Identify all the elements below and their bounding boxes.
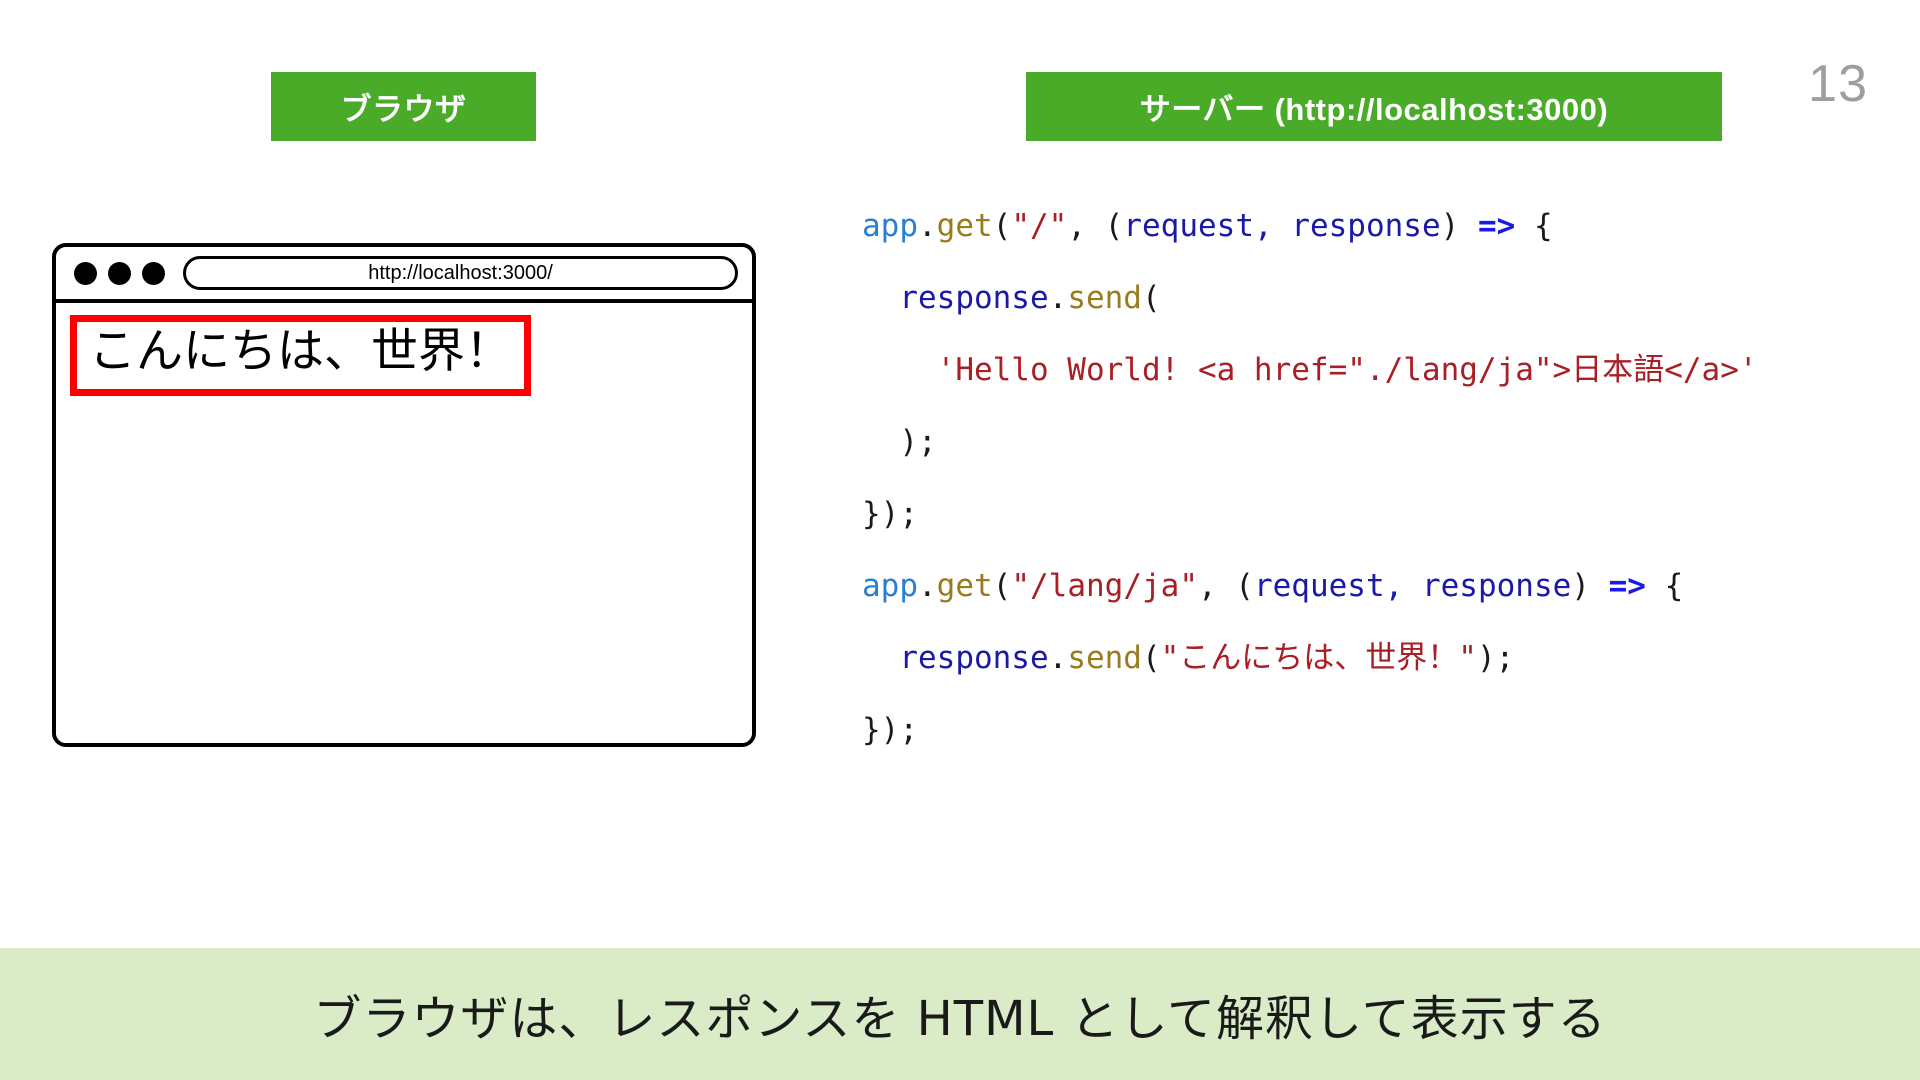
code-token-arrow: => xyxy=(1478,208,1515,244)
banner-server: サーバー (http://localhost:3000) xyxy=(1026,72,1722,141)
address-bar-url: http://localhost:3000/ xyxy=(368,263,553,283)
code-token-punct: { xyxy=(1515,208,1552,244)
code-line: response.send( xyxy=(862,262,1892,334)
code-token-arrow: => xyxy=(1609,568,1646,604)
window-dot-1-icon xyxy=(74,262,97,285)
rendered-page-text: こんにちは、世界！ xyxy=(89,326,512,379)
caption-text: ブラウザは、レスポンスを HTML として解釈して表示する xyxy=(313,979,1606,1049)
code-token-punct xyxy=(862,280,899,316)
code-token-method: get xyxy=(937,568,993,604)
code-token-punct: ( xyxy=(1142,640,1161,676)
code-token-punct: ) xyxy=(1441,208,1478,244)
server-code-block: app.get("/", (request, response) => { re… xyxy=(862,190,1892,766)
code-token-punct xyxy=(862,352,937,388)
code-token-punct: ( xyxy=(993,208,1012,244)
browser-chrome: http://localhost:3000/ xyxy=(56,247,752,303)
code-token-punct: ); xyxy=(1477,640,1514,676)
code-token-str: "こんにちは、世界！" xyxy=(1161,640,1477,676)
caption-band: ブラウザは、レスポンスを HTML として解釈して表示する xyxy=(0,948,1920,1080)
browser-window-mockup: http://localhost:3000/ こんにちは、世界！ xyxy=(52,243,756,747)
code-line: app.get("/", (request, response) => { xyxy=(862,190,1892,262)
code-token-punct xyxy=(862,640,899,676)
browser-viewport: こんにちは、世界！ xyxy=(56,303,752,743)
window-dot-3-icon xyxy=(142,262,165,285)
code-token-str: "/lang/ja" xyxy=(1011,568,1198,604)
window-dot-2-icon xyxy=(108,262,131,285)
code-token-punct: ( xyxy=(993,568,1012,604)
code-token-punct: , ( xyxy=(1067,208,1123,244)
banner-browser-label: ブラウザ xyxy=(341,84,467,129)
code-token-punct: . xyxy=(1049,640,1068,676)
code-line: app.get("/lang/ja", (request, response) … xyxy=(862,550,1892,622)
window-control-dots xyxy=(74,262,165,285)
code-token-str: "/" xyxy=(1011,208,1067,244)
code-token-method: get xyxy=(937,208,993,244)
code-token-str: 'Hello World! <a href="./lang/ja">日本語</a… xyxy=(937,352,1758,388)
code-token-obj: app xyxy=(862,208,918,244)
code-token-punct: { xyxy=(1646,568,1683,604)
code-token-punct: ) xyxy=(1571,568,1608,604)
code-token-punct: }); xyxy=(862,712,918,748)
code-line: response.send("こんにちは、世界！"); xyxy=(862,622,1892,694)
code-token-punct: . xyxy=(918,208,937,244)
code-line: ); xyxy=(862,406,1892,478)
code-token-punct: ( xyxy=(1142,280,1161,316)
code-line: }); xyxy=(862,478,1892,550)
code-token-punct: , ( xyxy=(1198,568,1254,604)
code-token-obj: app xyxy=(862,568,918,604)
code-line: 'Hello World! <a href="./lang/ja">日本語</a… xyxy=(862,334,1892,406)
code-token-punct: . xyxy=(918,568,937,604)
code-token-param: request, response xyxy=(1123,208,1440,244)
code-token-param: response xyxy=(899,280,1048,316)
code-token-param: request, response xyxy=(1254,568,1571,604)
code-token-punct: ); xyxy=(862,424,937,460)
banner-server-label: サーバー (http://localhost:3000) xyxy=(1140,84,1608,129)
code-line: }); xyxy=(862,694,1892,766)
code-token-method: send xyxy=(1067,640,1142,676)
code-token-param: response xyxy=(899,640,1048,676)
code-token-method: send xyxy=(1067,280,1142,316)
code-token-punct: }); xyxy=(862,496,918,532)
slide-number: 13 xyxy=(1808,58,1868,110)
code-token-punct: . xyxy=(1049,280,1068,316)
banner-browser: ブラウザ xyxy=(271,72,536,141)
address-bar[interactable]: http://localhost:3000/ xyxy=(183,256,738,290)
rendered-text-highlight: こんにちは、世界！ xyxy=(70,315,531,396)
